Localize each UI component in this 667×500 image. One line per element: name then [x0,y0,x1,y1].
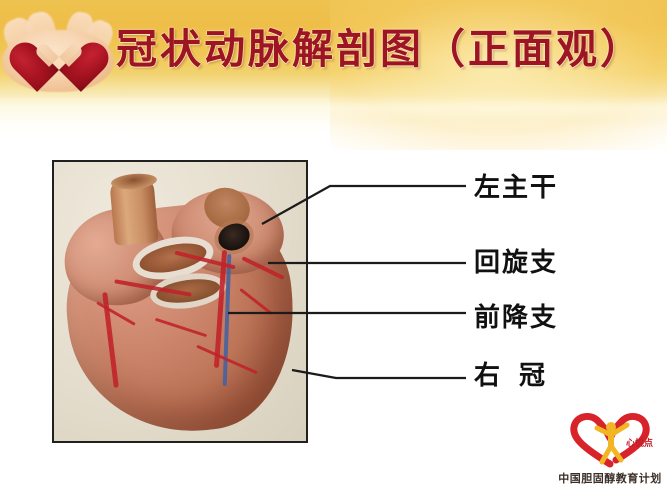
heart-in-hands-icon [0,4,120,104]
program-logo: 心悦点 中国胆固醇教育计划 [556,410,664,492]
heart-wreath-icon [28,22,90,80]
coronary-artery-anatomy-illustration [52,160,308,443]
program-logo-caption: 中国胆固醇教育计划 [556,470,664,486]
heart-with-figure-icon: 心悦点 [564,410,656,468]
heart-wreath-opening [45,35,73,61]
annotation-label-left-anterior-descending: 前降支 [474,305,558,331]
annotation-label-left-main: 左主干 [474,175,558,201]
logo-inner-text: 心悦点 [626,437,653,448]
leader-line-right-coronary [292,370,466,378]
page-title: 冠状动脉解剖图（正面观） [116,18,656,80]
slide-root: 冠状动脉解剖图（正面观） 左主干 回旋支 前降支 右 [0,0,667,500]
annotation-label-left-circumflex: 回旋支 [474,250,558,276]
annotation-label-right-coronary: 右 冠 [474,363,547,389]
